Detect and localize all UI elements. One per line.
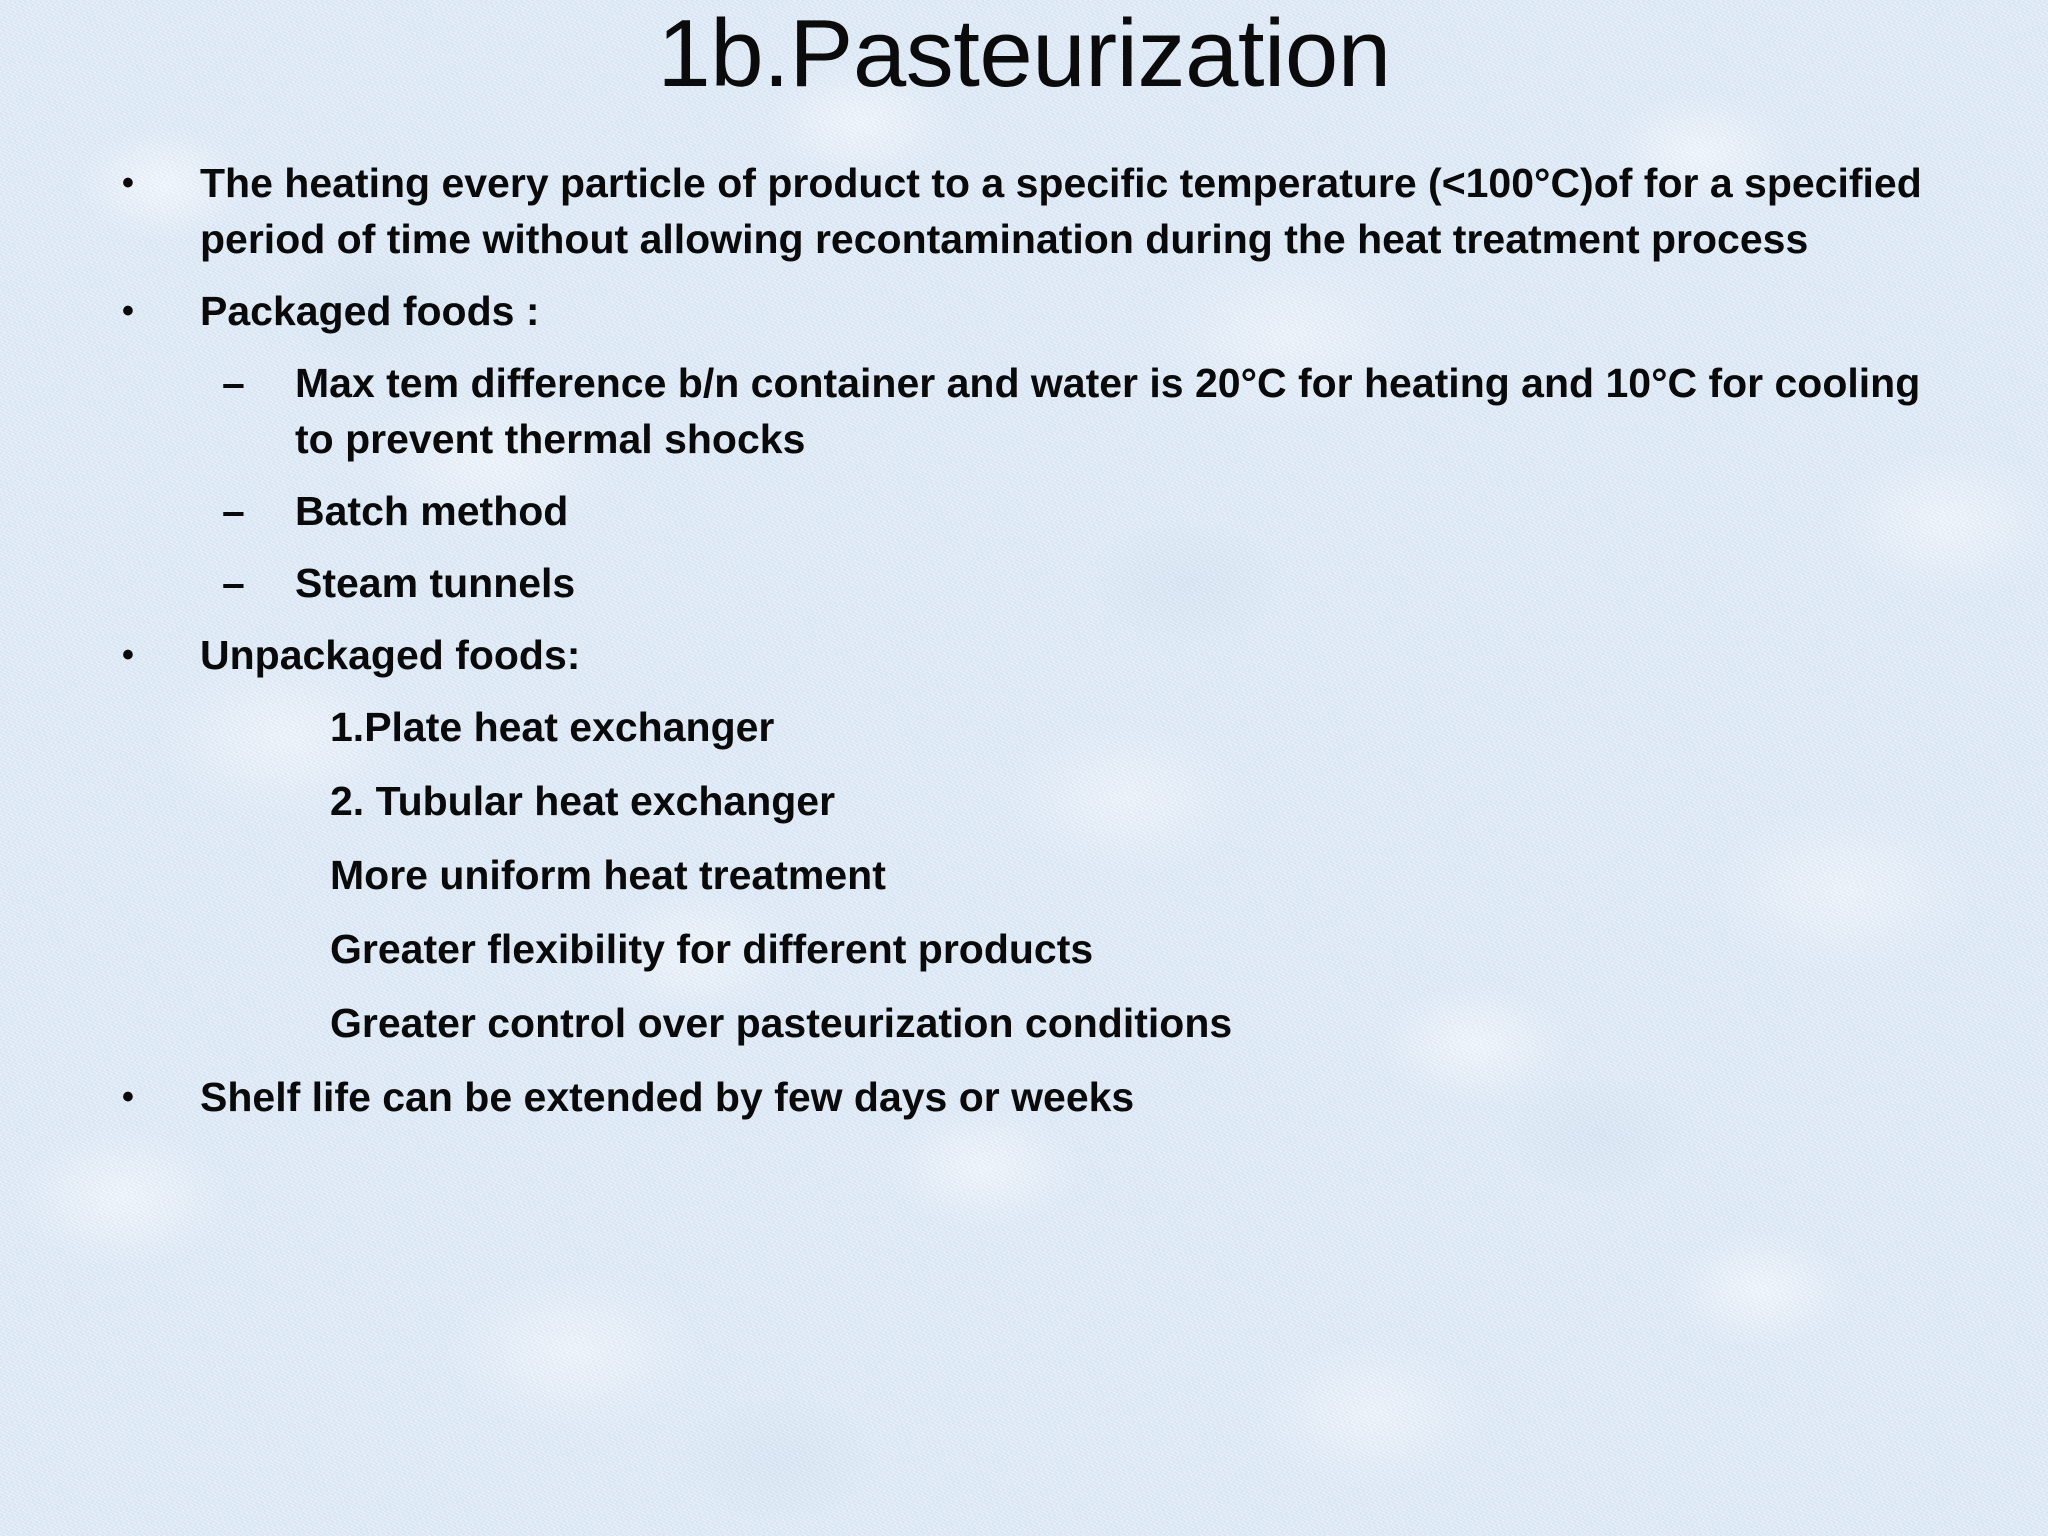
presentation-slide: 1b.Pasteurization •The heating every par… [0,0,2048,1536]
bullet-item: •Shelf life can be extended by few days … [0,1069,2048,1125]
bullet-item: •Unpackaged foods: [0,627,2048,683]
bullet-item: Greater flexibility for different produc… [0,921,2048,977]
bullet-item: 2. Tubular heat exchanger [0,773,2048,829]
bullet-dash-icon: – [222,555,295,611]
bullet-text: More uniform heat treatment [330,847,2048,903]
bullet-text: 1.Plate heat exchanger [330,699,2048,755]
bullet-item: –Batch method [0,483,2048,539]
bullet-text: Greater control over pasteurization cond… [330,995,2048,1051]
bullet-item: –Max tem difference b/n container and wa… [0,355,2048,467]
bullet-text: Max tem difference b/n container and wat… [295,355,1955,467]
bullet-dash-icon: – [222,483,295,539]
bullet-text: Unpackaged foods: [200,627,1950,683]
bullet-text: Steam tunnels [295,555,1955,611]
bullet-text: Greater flexibility for different produc… [330,921,2048,977]
bullet-item: –Steam tunnels [0,555,2048,611]
bullet-text: 2. Tubular heat exchanger [330,773,2048,829]
bullet-text: Shelf life can be extended by few days o… [200,1069,1950,1125]
bullet-disc-icon: • [122,155,200,211]
slide-content: 1b.Pasteurization •The heating every par… [0,0,2048,1536]
bullet-text: Packaged foods : [200,283,1950,339]
slide-title: 1b.Pasteurization [0,2,2048,106]
bullet-text: Batch method [295,483,1955,539]
bullet-text: The heating every particle of product to… [200,155,1950,267]
bullet-disc-icon: • [122,627,200,683]
bullet-disc-icon: • [122,283,200,339]
bullet-item: More uniform heat treatment [0,847,2048,903]
bullet-item: 1.Plate heat exchanger [0,699,2048,755]
bullet-dash-icon: – [222,355,295,411]
bullet-item: Greater control over pasteurization cond… [0,995,2048,1051]
bullet-item: •The heating every particle of product t… [0,155,2048,267]
bullet-disc-icon: • [122,1069,200,1125]
bullet-item: •Packaged foods : [0,283,2048,339]
slide-body: •The heating every particle of product t… [0,155,2048,1141]
